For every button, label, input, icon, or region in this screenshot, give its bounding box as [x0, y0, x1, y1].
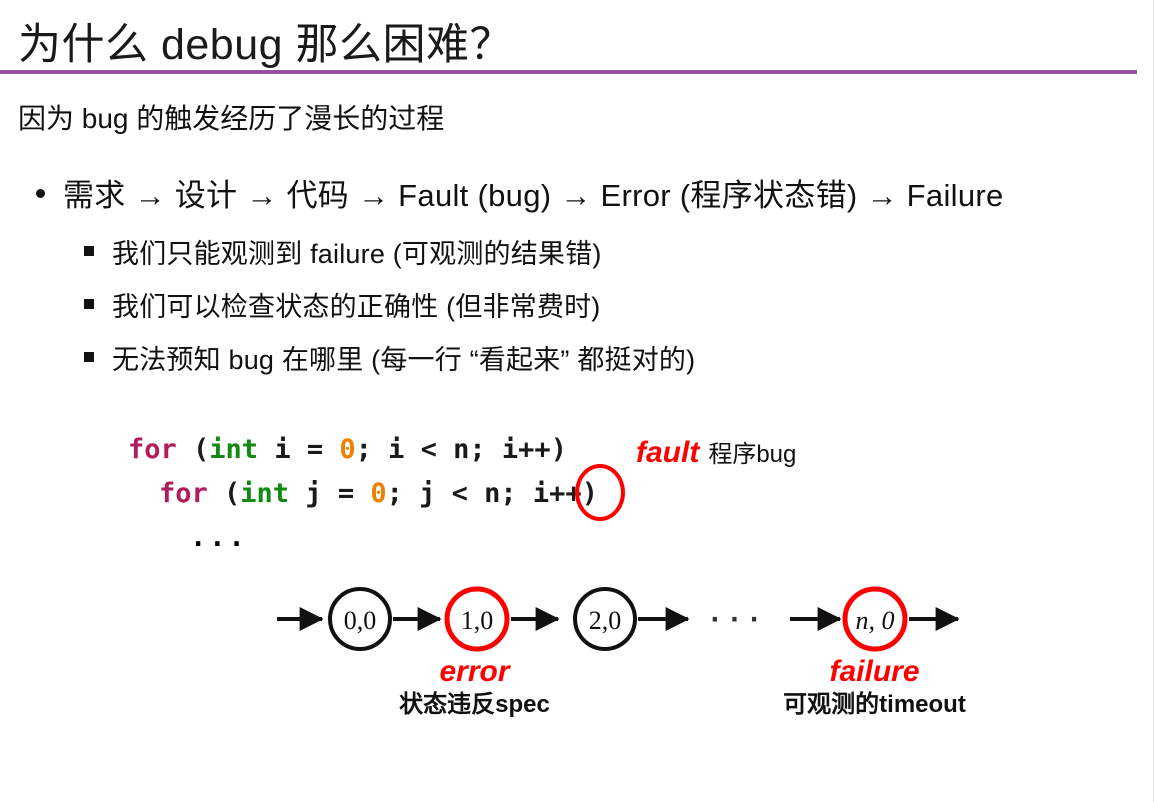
code-text: (	[208, 478, 241, 509]
code-text: (	[177, 434, 210, 465]
code-text: i =	[258, 434, 339, 465]
code-number: 0	[370, 478, 386, 509]
error-term: error	[372, 655, 577, 689]
code-keyword: for	[159, 478, 208, 509]
square-bullet-icon	[84, 299, 94, 309]
fault-term: fault	[636, 436, 699, 469]
failure-term: failure	[772, 655, 977, 689]
code-number: 0	[339, 434, 355, 465]
highlight-ellipse-icon	[575, 464, 625, 521]
state-node-label: 1,0	[461, 606, 494, 635]
state-node-label: n, 0	[856, 606, 895, 635]
code-text: ; j < n; i++)	[387, 478, 598, 509]
code-type: int	[209, 434, 258, 465]
code-line-2: for (int j = 0; j < n; i++)	[128, 472, 598, 516]
list-item: 我们只能观测到 failure (可观测的结果错)	[84, 232, 1124, 285]
code-type: int	[240, 478, 289, 509]
bullet-level1: 需求 → 设计 → 代码 → Fault (bug) → Error (程序状态…	[36, 170, 1136, 215]
page-title: 为什么 debug 那么困难？	[18, 10, 513, 72]
round-bullet-icon	[36, 189, 45, 198]
code-line-1: for (int i = 0; i < n; i++)	[128, 428, 598, 472]
title-divider	[0, 70, 1137, 74]
bullet-level2-label: 我们只能观测到 failure (可观测的结果错)	[112, 232, 602, 271]
diagram-ellipsis: ···	[707, 605, 766, 635]
failure-annotation: failure 可观测的timeout	[772, 655, 977, 721]
failure-note-label: 可观测的timeout	[772, 689, 977, 721]
fault-note-label: 程序bug	[708, 441, 796, 468]
bullet-level2-list: 我们只能观测到 failure (可观测的结果错) 我们可以检查状态的正确性 (…	[84, 232, 1124, 391]
code-block: for (int i = 0; i < n; i++)for (int j = …	[128, 428, 598, 560]
code-keyword: for	[128, 434, 177, 465]
state-node-label: 2,0	[589, 606, 622, 635]
error-note-label: 状态违反spec	[372, 689, 577, 721]
state-diagram: 0,0 1,0 2,0 n, 0	[0, 575, 1154, 670]
state-node-label: 0,0	[344, 606, 377, 635]
slide-canvas: 为什么 debug 那么困难？ 因为 bug 的触发经历了漫长的过程 需求 → …	[0, 0, 1154, 802]
bullet-level1-label: 需求 → 设计 → 代码 → Fault (bug) → Error (程序状态…	[63, 170, 1004, 215]
error-annotation: error 状态违反spec	[372, 655, 577, 721]
fault-annotation: fault程序bug	[636, 434, 796, 470]
list-item: 我们可以检查状态的正确性 (但非常费时)	[84, 285, 1124, 338]
bullet-level2-label: 无法预知 bug 在哪里 (每一行 “看起来” 都挺对的)	[112, 338, 695, 377]
square-bullet-icon	[84, 246, 94, 256]
square-bullet-icon	[84, 352, 94, 362]
bullet-level2-label: 我们可以检查状态的正确性 (但非常费时)	[112, 285, 600, 324]
code-text: ; i < n; i++)	[356, 434, 567, 465]
subtitle: 因为 bug 的触发经历了漫长的过程	[18, 97, 444, 137]
code-line-3: ...	[128, 516, 598, 560]
list-item: 无法预知 bug 在哪里 (每一行 “看起来” 都挺对的)	[84, 338, 1124, 391]
code-text: j =	[289, 478, 370, 509]
